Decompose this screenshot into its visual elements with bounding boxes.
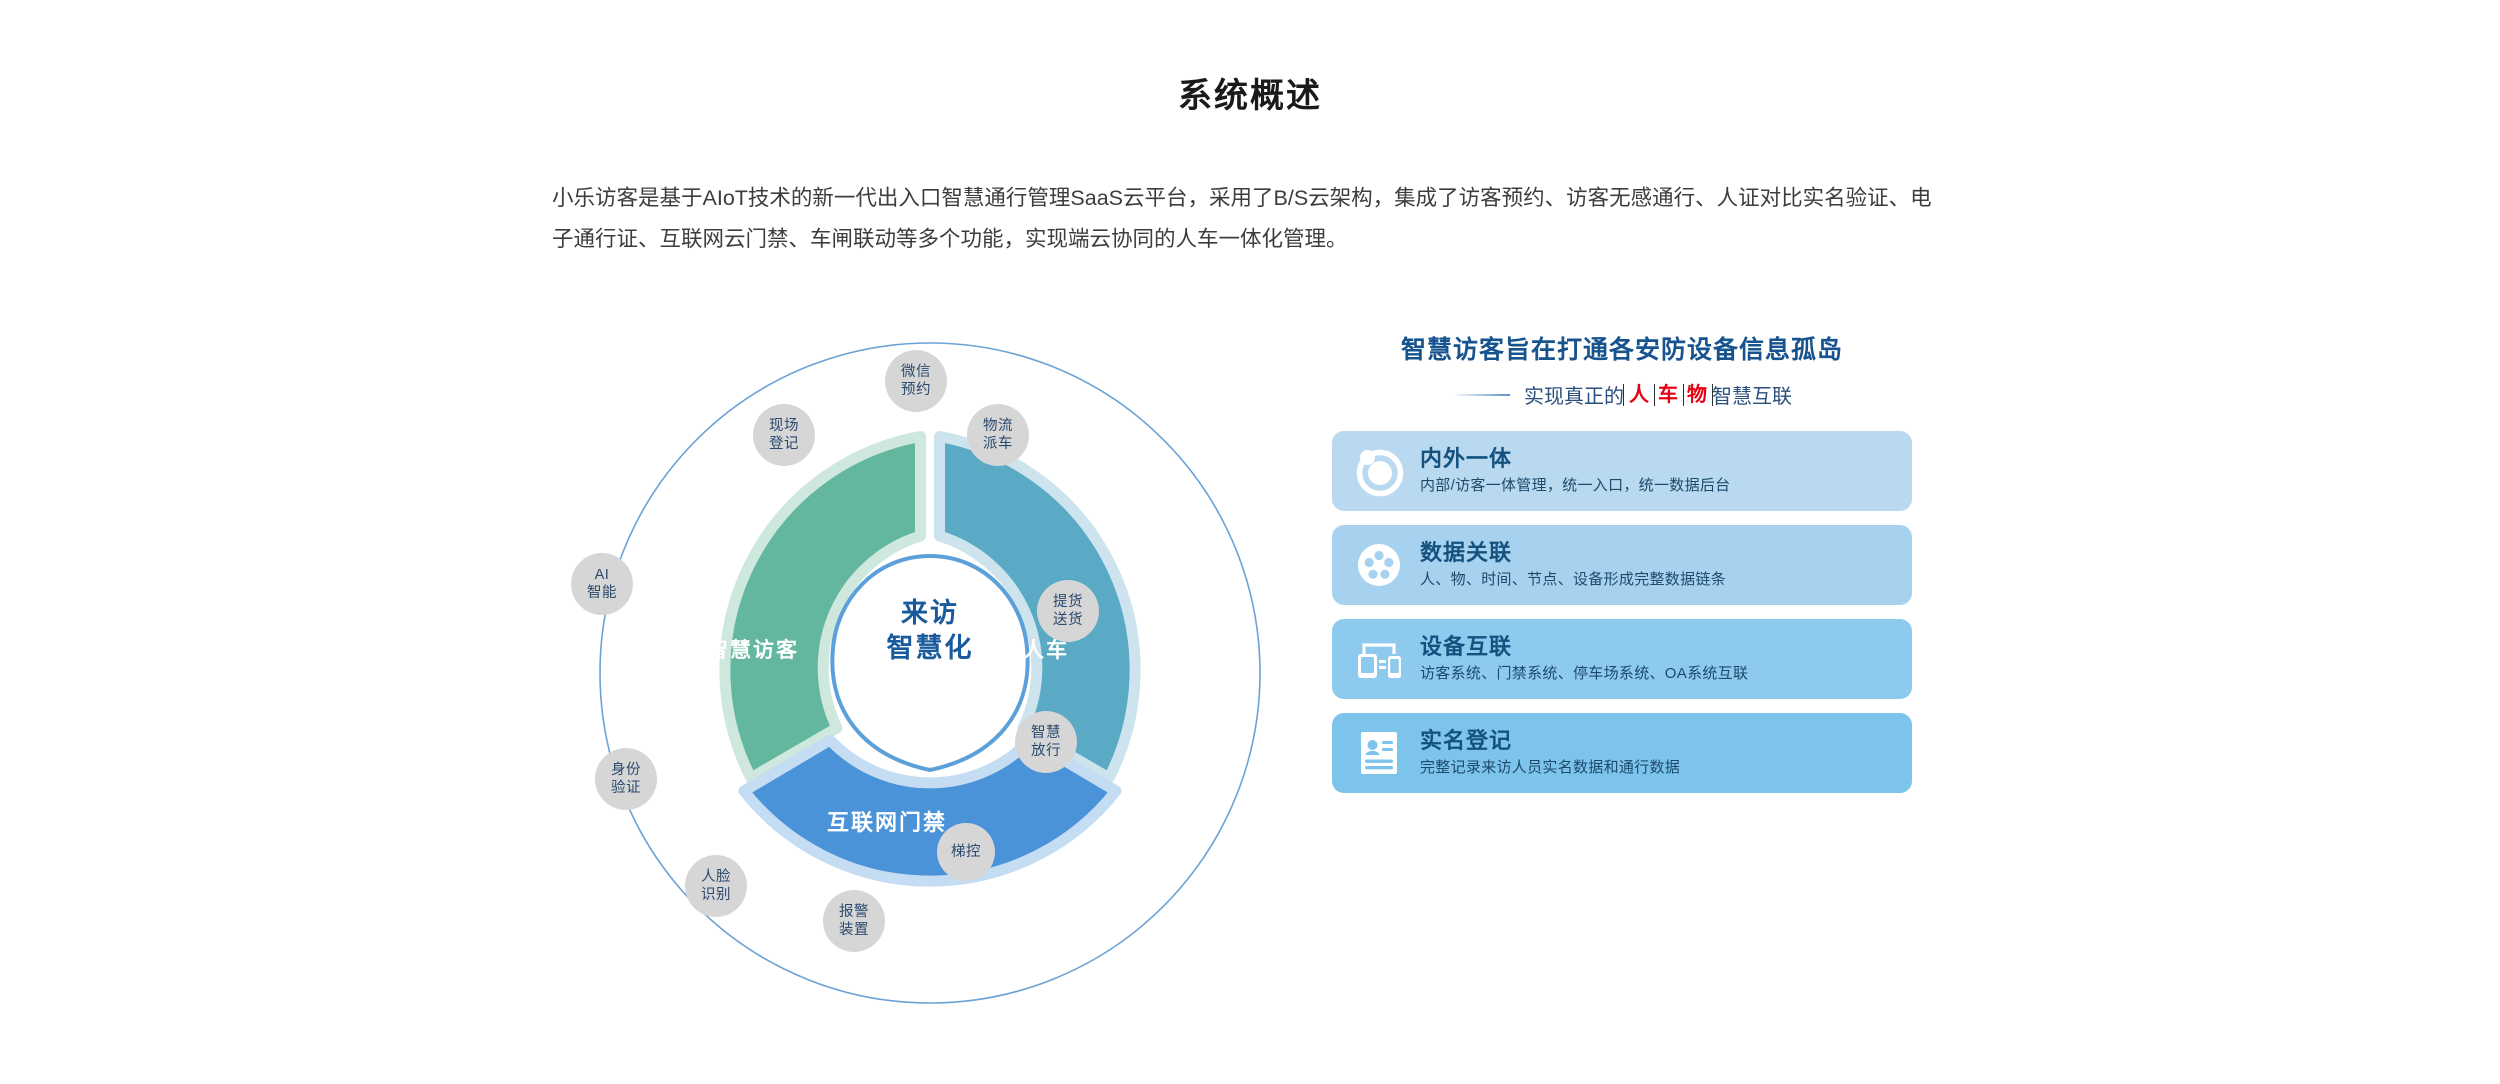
- bubble-line-1: 身份: [611, 761, 641, 779]
- feature-card-list: 内外一体 内部/访客一体管理，统一入口，统一数据后台: [1332, 431, 1912, 793]
- bubble-line-1: 微信: [901, 363, 931, 381]
- subtitle-prefix: 实现真正的: [1524, 380, 1624, 409]
- card-body: 实名登记 完整记录来访人员实名数据和通行数据: [1420, 727, 1680, 779]
- right-panel: 智慧访客旨在打通各安防设备信息孤岛 实现真正的人车物智慧互联 内外一: [1332, 330, 1912, 793]
- card-title: 数据关联: [1420, 539, 1726, 567]
- card-title: 内外一体: [1420, 445, 1730, 473]
- center-line-2: 智慧化: [820, 631, 1040, 666]
- bubble-face-recognition[interactable]: 人脸 识别: [685, 855, 747, 917]
- bubble-line-1: 现场: [769, 417, 799, 435]
- card-desc: 完整记录来访人员实名数据和通行数据: [1420, 757, 1680, 779]
- bubble-line-2: 放行: [1031, 742, 1061, 760]
- page-root: 系统概述 小乐访客是基于AIoT技术的新一代出入口智慧通行管理SaaS云平台，采…: [0, 0, 2500, 1084]
- bubble-identity-verify[interactable]: 身份 验证: [595, 748, 657, 810]
- bubble-line-1: AI: [595, 566, 610, 584]
- bubble-line-1: 提货: [1053, 593, 1083, 611]
- bubble-line-1: 物流: [983, 417, 1013, 435]
- card-body: 设备互联 访客系统、门禁系统、停车场系统、OA系统互联: [1420, 633, 1748, 685]
- bubble-line-1: 人脸: [701, 868, 731, 886]
- bubble-line-1: 梯控: [951, 843, 981, 861]
- card-title: 设备互联: [1420, 633, 1748, 661]
- bubble-line-2: 装置: [839, 921, 869, 939]
- card-title: 实名登记: [1420, 727, 1680, 755]
- bubble-line-1: 报警: [839, 903, 869, 921]
- subtitle-suffix: 智慧互联: [1712, 380, 1792, 409]
- feature-card-device-interconnect[interactable]: 设备互联 访客系统、门禁系统、停车场系统、OA系统互联: [1332, 619, 1912, 699]
- card-body: 内外一体 内部/访客一体管理，统一入口，统一数据后台: [1420, 445, 1730, 497]
- card-desc: 内部/访客一体管理，统一入口，统一数据后台: [1420, 475, 1730, 497]
- bubble-line-2: 识别: [701, 886, 731, 904]
- right-headline: 智慧访客旨在打通各安防设备信息孤岛: [1332, 330, 1912, 366]
- bubble-onsite-register[interactable]: 现场 登记: [753, 404, 815, 466]
- bubble-alarm-device[interactable]: 报警 装置: [823, 890, 885, 952]
- bubble-line-2: 验证: [611, 779, 641, 797]
- subtitle-highlight-object: 物: [1682, 384, 1713, 406]
- id-card-icon: [1350, 724, 1408, 782]
- system-circle-diagram: 智慧访客 智慧人车 互联网门禁 来访 智慧化 微信 预约 现场 登记 AI 智能…: [575, 318, 1285, 1018]
- bubble-ai-intelligence[interactable]: AI 智能: [571, 553, 633, 615]
- subtitle-highlight-vehicle: 车: [1653, 384, 1684, 406]
- bubble-logistics-dispatch[interactable]: 物流 派车: [967, 404, 1029, 466]
- bubble-line-2: 智能: [587, 584, 617, 602]
- feature-card-data-association[interactable]: 数据关联 人、物、时间、节点、设备形成完整数据链条: [1332, 525, 1912, 605]
- ring-circle-icon: [1350, 442, 1408, 500]
- devices-link-icon: [1350, 630, 1408, 688]
- bubble-line-2: 送货: [1053, 611, 1083, 629]
- segment-label-visitor: 智慧访客: [707, 634, 799, 664]
- five-dots-circle-icon: [1350, 536, 1408, 594]
- feature-card-internal-external[interactable]: 内外一体 内部/访客一体管理，统一入口，统一数据后台: [1332, 431, 1912, 511]
- diagram-svg: [575, 318, 1285, 1018]
- card-desc: 人、物、时间、节点、设备形成完整数据链条: [1420, 569, 1726, 591]
- bubble-elevator-control[interactable]: 梯控: [937, 823, 995, 881]
- bubble-wechat-booking[interactable]: 微信 预约: [885, 350, 947, 412]
- bubble-line-2: 预约: [901, 381, 931, 399]
- feature-card-real-name-registration[interactable]: 实名登记 完整记录来访人员实名数据和通行数据: [1332, 713, 1912, 793]
- segment-label-access: 互联网门禁: [827, 805, 947, 837]
- right-subtitle-row: 实现真正的人车物智慧互联: [1332, 380, 1912, 409]
- subtitle-rule-left: [1452, 394, 1510, 396]
- bubble-pickup-delivery[interactable]: 提货 送货: [1037, 580, 1099, 642]
- bubble-line-1: 智慧: [1031, 724, 1061, 742]
- page-title: 系统概述: [0, 68, 2500, 117]
- center-label: 来访 智慧化: [820, 596, 1040, 666]
- bubble-line-2: 派车: [983, 435, 1013, 453]
- bubble-smart-release[interactable]: 智慧 放行: [1015, 711, 1077, 773]
- card-body: 数据关联 人、物、时间、节点、设备形成完整数据链条: [1420, 539, 1726, 591]
- subtitle-highlight-person: 人: [1623, 384, 1655, 406]
- center-line-1: 来访: [820, 596, 1040, 631]
- right-subtitle: 实现真正的人车物智慧互联: [1524, 380, 1792, 409]
- bubble-line-2: 登记: [769, 435, 799, 453]
- intro-paragraph: 小乐访客是基于AIoT技术的新一代出入口智慧通行管理SaaS云平台，采用了B/S…: [552, 178, 1952, 260]
- card-desc: 访客系统、门禁系统、停车场系统、OA系统互联: [1420, 663, 1748, 685]
